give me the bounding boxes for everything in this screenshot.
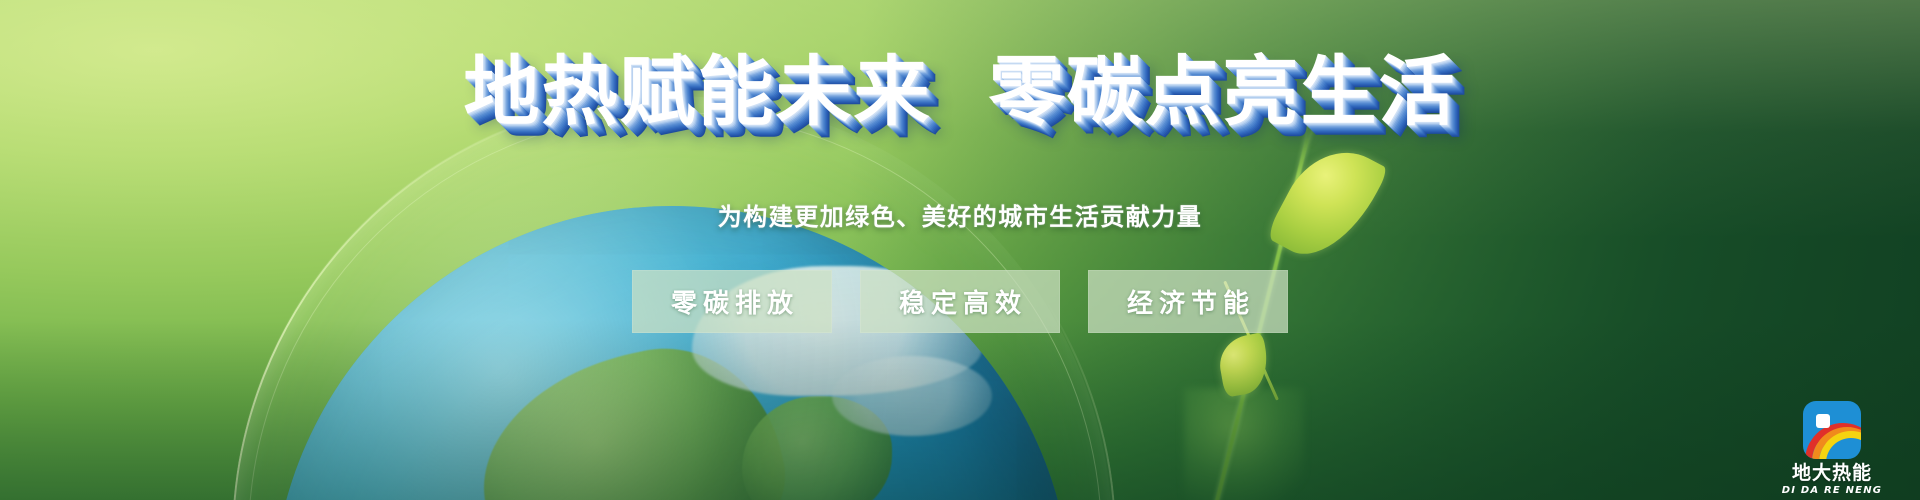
background-bottom-shade bbox=[0, 320, 1920, 500]
hero-banner: 地热赋能未来 零碳点亮生活 为构建更加绿色、美好的城市生活贡献力量 零碳排放 稳… bbox=[0, 0, 1920, 500]
feature-tag-list: 零碳排放 稳定高效 经济节能 bbox=[0, 270, 1920, 333]
company-logo[interactable]: 地大热能 DI DA RE NENG bbox=[1772, 401, 1892, 496]
logo-name-cn: 地大热能 bbox=[1772, 463, 1892, 484]
logo-mark-icon bbox=[1803, 401, 1861, 459]
title-container: 地热赋能未来 零碳点亮生活 bbox=[0, 54, 1920, 130]
feature-tag-zero-carbon[interactable]: 零碳排放 bbox=[632, 270, 832, 333]
logo-notch-icon bbox=[1816, 414, 1830, 428]
banner-title: 地热赋能未来 零碳点亮生活 bbox=[464, 54, 1457, 130]
banner-subtitle: 为构建更加绿色、美好的城市生活贡献力量 bbox=[718, 197, 1203, 232]
logo-name-en: DI DA RE NENG bbox=[1772, 485, 1892, 496]
feature-tag-stable-efficient[interactable]: 稳定高效 bbox=[860, 270, 1060, 333]
subtitle-container: 为构建更加绿色、美好的城市生活贡献力量 bbox=[0, 197, 1920, 232]
feature-tag-economical[interactable]: 经济节能 bbox=[1088, 270, 1288, 333]
